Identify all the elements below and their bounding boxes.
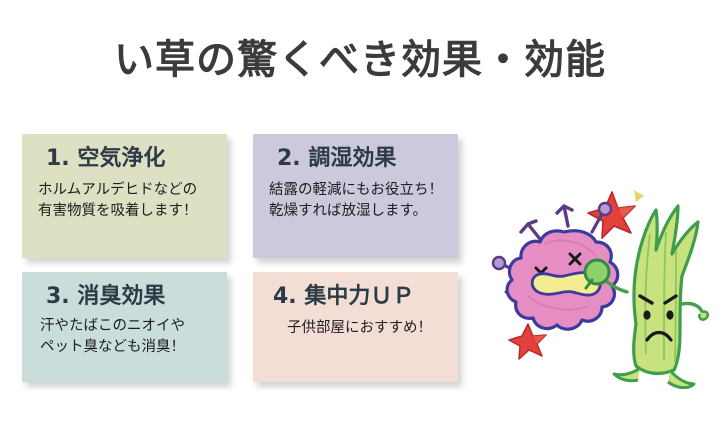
benefit-card-body-line: 結露の軽減にもお役立ち！	[269, 180, 450, 201]
benefit-card-heading: 1. 空気浄化	[30, 144, 219, 174]
page-title: い草の驚くべき効果・効能	[0, 34, 720, 86]
benefit-card-body-line: 子供部屋におすすめ！	[287, 318, 450, 339]
benefit-card-body: 結露の軽減にもお役立ち！ 乾燥すれば放湿します。	[261, 180, 450, 222]
benefit-card-humidity-control: 2. 調湿効果 結露の軽減にもお役立ち！ 乾燥すれば放湿します。	[253, 134, 458, 258]
benefit-card-heading: 2. 調湿効果	[261, 144, 450, 174]
benefit-card-body-line: 乾燥すれば放湿します。	[269, 201, 450, 222]
benefit-card-body-line: 有害物質を吸着します！	[38, 201, 219, 222]
benefit-card-body: ホルムアルデヒドなどの 有害物質を吸着します！	[30, 180, 219, 222]
benefit-card-body: 汗やたばこのニオイや ペット臭なども消臭！	[30, 316, 219, 358]
infographic-page: い草の驚くべき効果・効能 1. 空気浄化 ホルムアルデヒドなどの 有害物質を吸着…	[0, 0, 720, 429]
benefit-card-body: 子供部屋におすすめ！	[261, 318, 450, 339]
benefit-card-body-line: 汗やたばこのニオイや	[40, 316, 219, 337]
benefit-card-concentration: 4. 集中力ＵＰ 子供部屋におすすめ！	[253, 272, 458, 382]
illustration-igusa-vs-germ	[484, 184, 716, 402]
benefit-card-heading: 3. 消臭効果	[30, 282, 219, 312]
benefit-card-body-line: ホルムアルデヒドなどの	[38, 180, 219, 201]
impact-star-icon	[509, 324, 546, 359]
benefit-card-air-purification: 1. 空気浄化 ホルムアルデヒドなどの 有害物質を吸着します！	[22, 134, 227, 258]
benefit-card-body-line: ペット臭なども消臭！	[40, 337, 219, 358]
benefit-card-heading: 4. 集中力ＵＰ	[261, 282, 450, 312]
benefit-card-deodorizing: 3. 消臭効果 汗やたばこのニオイや ペット臭なども消臭！	[22, 272, 227, 382]
impact-star-icon	[588, 190, 644, 238]
